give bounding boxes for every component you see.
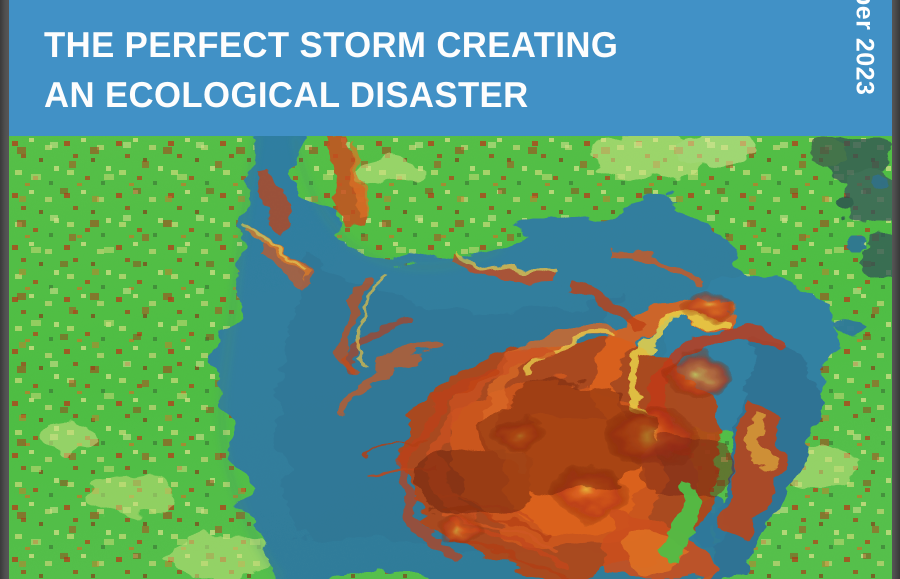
publication-date-label: ber 2023 — [850, 0, 879, 95]
page-title-line-1: THE PERFECT STORM CREATING — [44, 20, 720, 70]
page-title-line-2: AN ECOLOGICAL DISASTER — [44, 70, 720, 120]
report-page: THE PERFECT STORM CREATING AN ECOLOGICAL… — [0, 0, 900, 579]
satellite-image-figure — [9, 136, 892, 579]
page-gutter-left — [0, 0, 9, 579]
header-banner: THE PERFECT STORM CREATING AN ECOLOGICAL… — [9, 0, 892, 136]
page-title: THE PERFECT STORM CREATING AN ECOLOGICAL… — [44, 20, 744, 120]
date-rail: ber 2023 — [842, 0, 886, 136]
page-sheet: THE PERFECT STORM CREATING AN ECOLOGICAL… — [9, 0, 892, 579]
false-colour-satellite-graphic — [9, 136, 892, 579]
page-gutter-right — [892, 0, 900, 579]
